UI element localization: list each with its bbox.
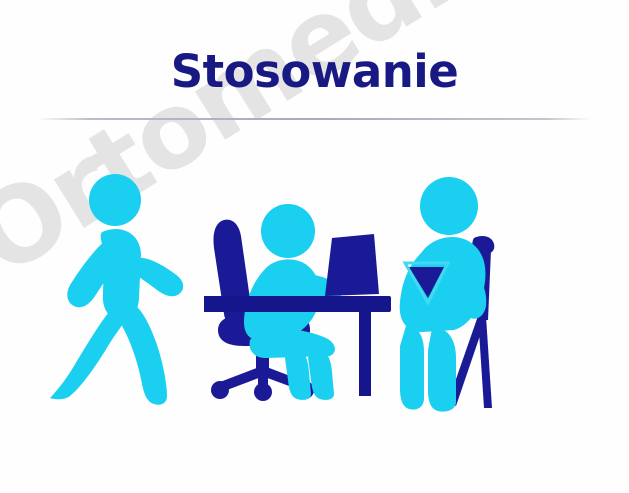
crutch-person-front-leg: [428, 328, 456, 412]
walking-person-head: [89, 174, 141, 226]
slide-canvas: Ortomedico.pl Stosowanie: [0, 0, 629, 493]
person-with-crutch-illustration: [388, 170, 523, 415]
laptop: [325, 234, 379, 296]
page-title: Stosowanie: [0, 44, 629, 100]
walking-person-front-arm: [132, 258, 183, 297]
seated-person-head: [261, 204, 315, 258]
title-divider: [36, 118, 592, 120]
crutch-person-back-leg: [400, 326, 424, 410]
crutch-person: [400, 177, 487, 412]
title-block: Stosowanie: [0, 44, 629, 100]
desk-worker-illustration: [204, 196, 394, 401]
crutch-person-head: [420, 177, 478, 235]
walking-person-front-leg: [122, 302, 167, 405]
walking-person-illustration: [36, 170, 186, 410]
walking-person-back-leg: [50, 304, 130, 399]
